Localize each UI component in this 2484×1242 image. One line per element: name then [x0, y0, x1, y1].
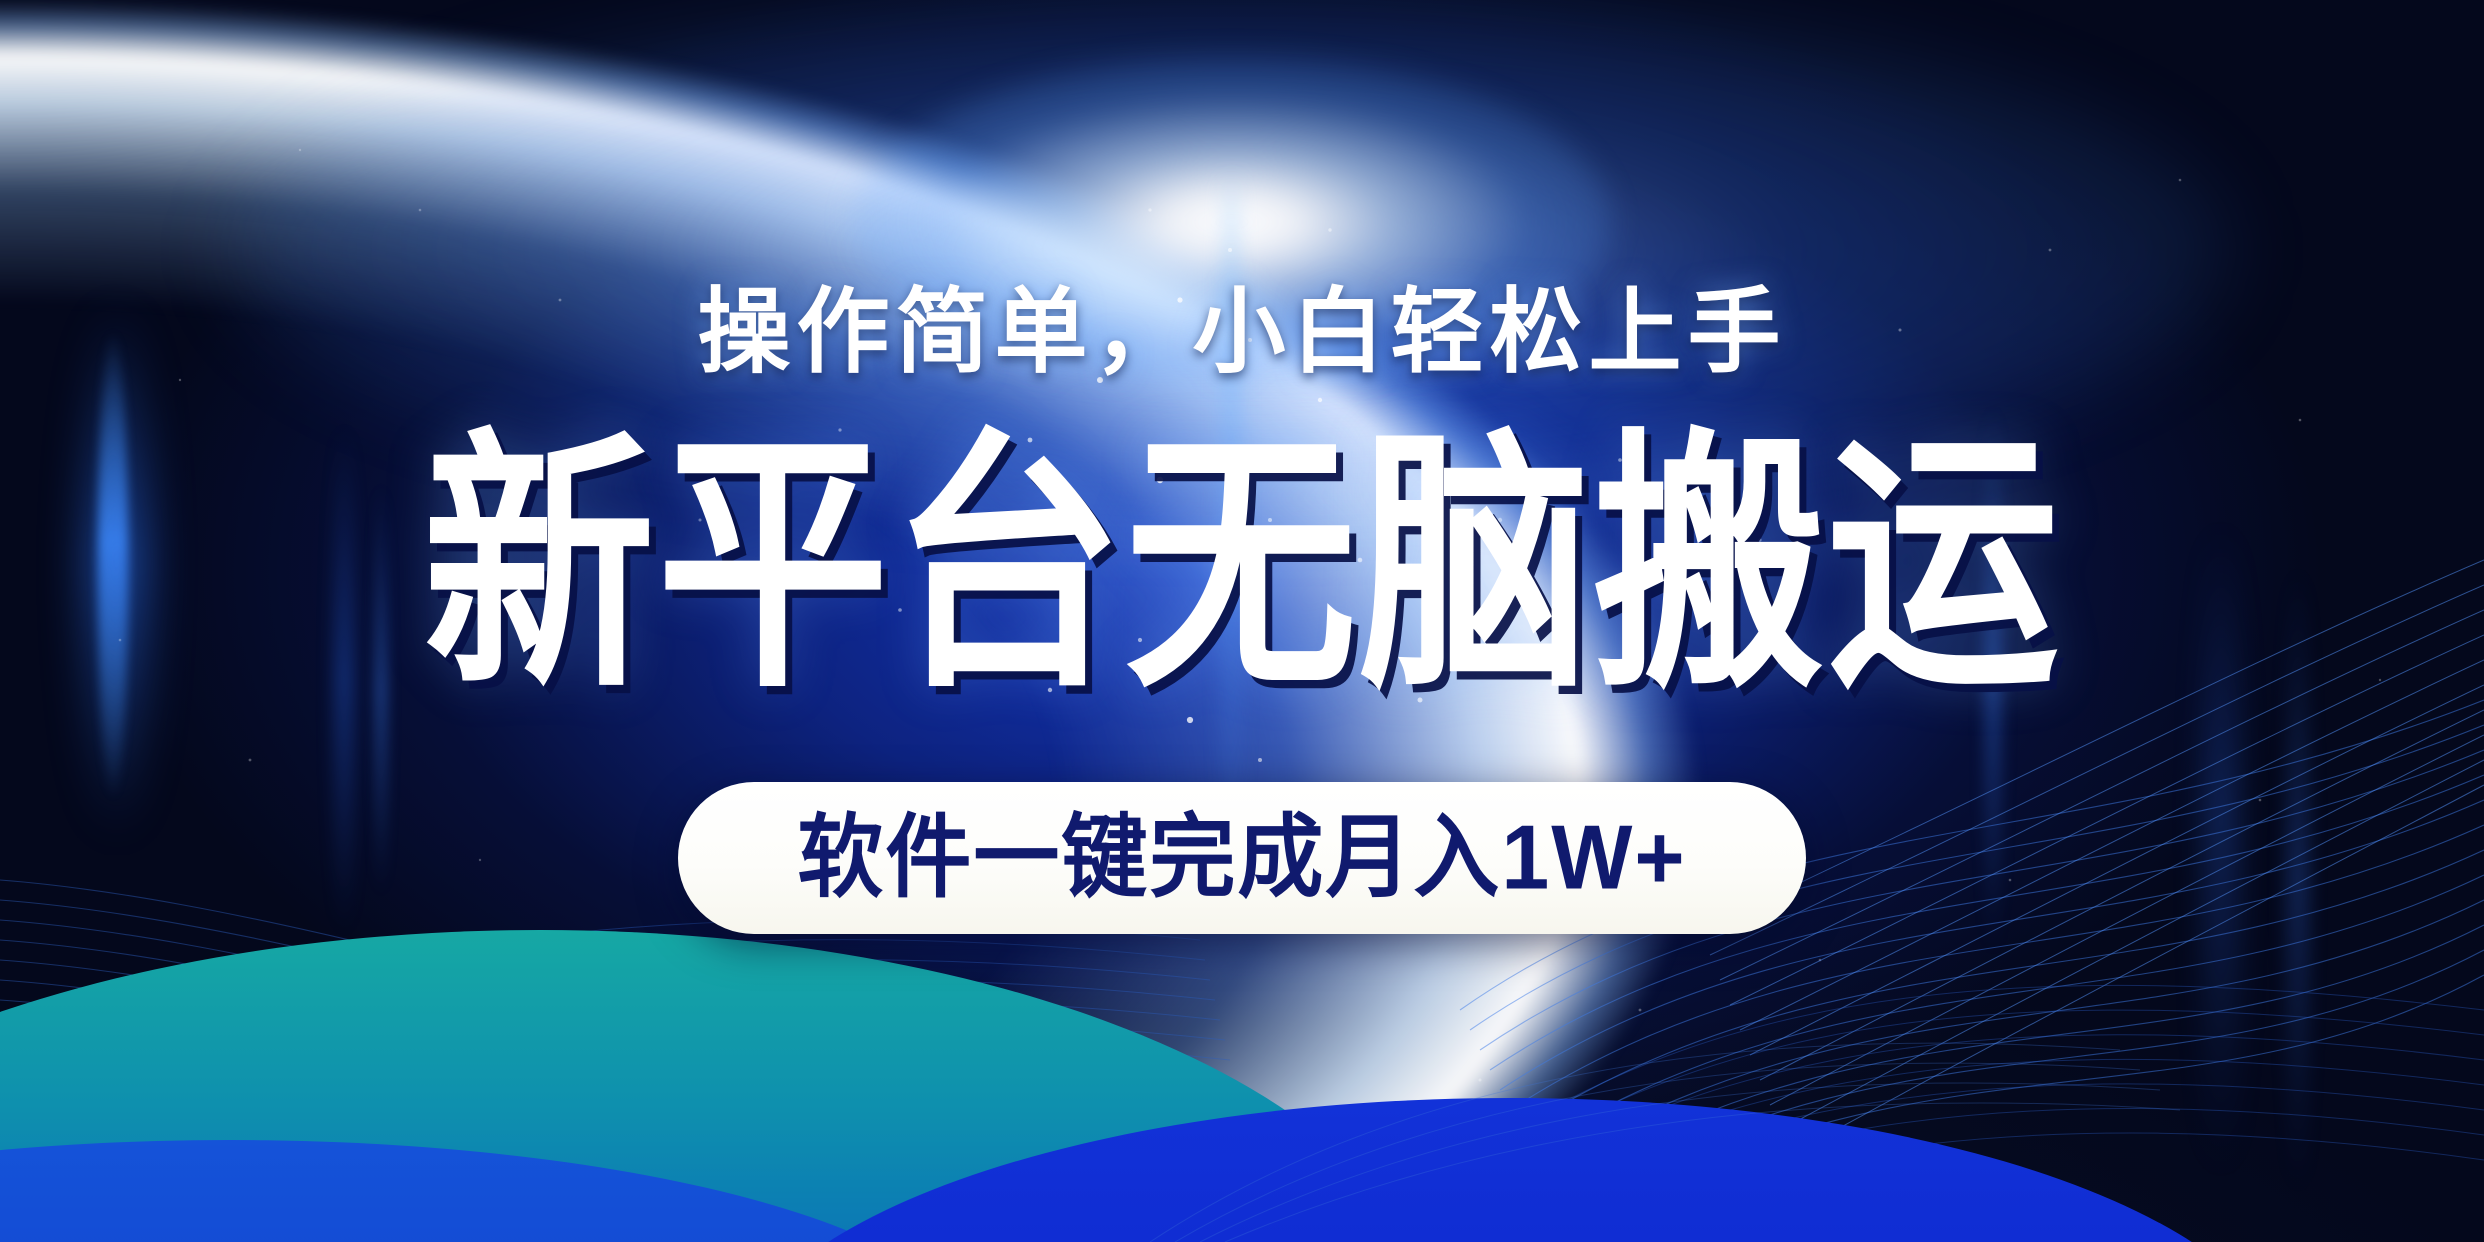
- promo-banner: 操作简单，小白轻松上手 新平台无脑搬运 软件一键完成月入1W+: [0, 0, 2484, 1242]
- banner-content: 操作简单，小白轻松上手 新平台无脑搬运 软件一键完成月入1W+: [0, 0, 2484, 1242]
- banner-subtitle: 操作简单，小白轻松上手: [0, 286, 2484, 379]
- highlight-badge-label: 软件一键完成月入1W+: [797, 812, 1686, 903]
- banner-headline: 新平台无脑搬运: [0, 430, 2484, 704]
- highlight-badge: 软件一键完成月入1W+: [678, 782, 1806, 934]
